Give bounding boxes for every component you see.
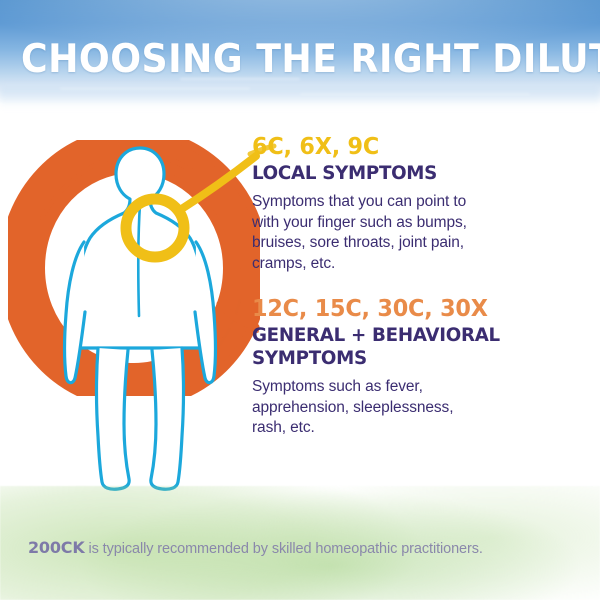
subhead-general: GENERAL + BEHAVIORAL SYMPTOMS bbox=[252, 324, 569, 370]
description-line: bruises, sore throats, joint pain, bbox=[252, 233, 582, 254]
description-line: apprehension, sleeplessness, bbox=[252, 398, 582, 419]
subhead-local: LOCAL SYMPTOMS bbox=[252, 162, 569, 185]
page-title: CHOOSING THE RIGHT DILUTION bbox=[21, 36, 579, 84]
description-general: Symptoms such as fever, apprehension, sl… bbox=[252, 377, 582, 439]
footer-note: 200CK is typically recommended by skille… bbox=[28, 538, 588, 559]
description-line: Symptoms such as fever, bbox=[252, 377, 582, 398]
description-local: Symptoms that you can point to with your… bbox=[252, 192, 582, 274]
dilution-block-general: 12C, 15C, 30C, 30X GENERAL + BEHAVIORAL … bbox=[252, 296, 582, 439]
yellow-pointer-line bbox=[180, 156, 256, 210]
band-streak bbox=[300, 93, 530, 95]
dose-label-general: 12C, 15C, 30C, 30X bbox=[252, 296, 572, 322]
footer-text: is typically recommended by skilled home… bbox=[85, 541, 483, 557]
dose-label-local: 6C, 6X, 9C bbox=[252, 134, 572, 160]
content-column: 6C, 6X, 9C LOCAL SYMPTOMS Symptoms that … bbox=[252, 134, 582, 439]
description-line: rash, etc. bbox=[252, 418, 582, 439]
infographic-canvas: CHOOSING THE RIGHT DILUTION bbox=[0, 0, 600, 600]
description-line: Symptoms that you can point to bbox=[252, 192, 582, 213]
footer-strong-label: 200CK bbox=[28, 538, 85, 557]
band-streak bbox=[60, 88, 250, 90]
description-line: cramps, etc. bbox=[252, 254, 582, 275]
dilution-block-local: 6C, 6X, 9C LOCAL SYMPTOMS Symptoms that … bbox=[252, 134, 582, 274]
subhead-line: GENERAL + bbox=[252, 324, 366, 346]
description-line: with your finger such as bumps, bbox=[252, 213, 582, 234]
